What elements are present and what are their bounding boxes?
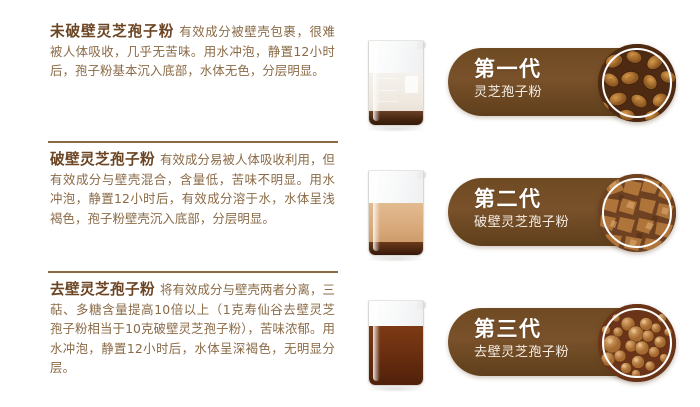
micrograph-circle-2[interactable] xyxy=(598,174,676,252)
generation-label-2: 第二代 xyxy=(474,187,604,212)
micrograph-ring-2 xyxy=(602,178,672,248)
infographic-canvas: 未破壁灵芝孢子粉有效成分被壁壳包裹，很难被人体吸收，几乎无苦味。用水冲泡，静置1… xyxy=(0,0,700,407)
generation-badge-content-1: 第一代 灵芝孢子粉 xyxy=(474,57,604,101)
generation-badge-content-3: 第三代 去壁灵芝孢子粉 xyxy=(474,317,604,361)
beaker-body-2 xyxy=(368,170,422,254)
beaker-glass-2 xyxy=(368,170,424,256)
beaker-shadow-3 xyxy=(364,386,426,392)
generation-label-1: 第一代 xyxy=(474,57,604,82)
beaker-glass-1 xyxy=(368,40,424,126)
generation-badge-content-2: 第二代 破壁灵芝孢子粉 xyxy=(474,187,604,231)
comparison-row-generation-1: 未破壁灵芝孢子粉有效成分被壁壳包裹，很难被人体吸收，几乎无苦味。用水冲泡，静置1… xyxy=(0,22,700,147)
generation-subtitle-2: 破壁灵芝孢子粉 xyxy=(474,214,604,231)
description-lead-2: 破壁灵芝孢子粉 xyxy=(50,151,155,168)
comparison-row-generation-2: 破壁灵芝孢子粉有效成分易被人体吸收利用，但有效成分与壁壳混合，含量低，苦味不明显… xyxy=(0,152,700,277)
beaker-label-1 xyxy=(405,76,418,93)
micrograph-ring-3 xyxy=(602,308,672,378)
micrograph-circle-3[interactable] xyxy=(598,304,676,382)
beaker-body-1 xyxy=(368,40,422,124)
beaker-graduation-1a xyxy=(378,78,398,79)
beaker-highlight-3 xyxy=(373,304,380,381)
beaker-graduation-1c xyxy=(378,101,398,102)
generation-subtitle-3: 去壁灵芝孢子粉 xyxy=(474,344,604,361)
beaker-body-3 xyxy=(368,300,422,384)
beaker-highlight-1 xyxy=(373,44,380,121)
description-text-3: 去壁灵芝孢子粉将有效成分与壁壳两者分离，三萜、多糖含量提高10倍以上（1克寿仙谷… xyxy=(50,280,335,378)
description-lead-3: 去壁灵芝孢子粉 xyxy=(50,281,155,298)
beaker-illustration-1 xyxy=(362,26,430,138)
generation-label-3: 第三代 xyxy=(474,317,604,342)
beaker-shadow-2 xyxy=(364,256,426,262)
beaker-shadow-1 xyxy=(364,126,426,132)
beaker-illustration-2 xyxy=(362,156,430,268)
description-text-2: 破壁灵芝孢子粉有效成分易被人体吸收利用，但有效成分与壁壳混合，含量低，苦味不明显… xyxy=(50,150,335,228)
micrograph-circle-1[interactable] xyxy=(598,44,676,122)
description-block-3: 去壁灵芝孢子粉将有效成分与壁壳两者分离，三萜、多糖含量提高10倍以上（1克寿仙谷… xyxy=(50,280,335,378)
beaker-illustration-3 xyxy=(362,286,430,398)
comparison-row-generation-3: 去壁灵芝孢子粉将有效成分与壁壳两者分离，三萜、多糖含量提高10倍以上（1克寿仙谷… xyxy=(0,282,700,407)
section-divider-2 xyxy=(48,271,338,273)
generation-subtitle-1: 灵芝孢子粉 xyxy=(474,84,604,101)
description-text-1: 未破壁灵芝孢子粉有效成分被壁壳包裹，很难被人体吸收，几乎无苦味。用水冲泡，静置1… xyxy=(50,22,335,81)
description-block-2: 破壁灵芝孢子粉有效成分易被人体吸收利用，但有效成分与壁壳混合，含量低，苦味不明显… xyxy=(50,150,335,228)
beaker-highlight-2 xyxy=(373,174,380,251)
beaker-glass-3 xyxy=(368,300,424,386)
micrograph-ring-1 xyxy=(602,48,672,118)
beaker-graduation-1b xyxy=(378,90,398,91)
description-block-1: 未破壁灵芝孢子粉有效成分被壁壳包裹，很难被人体吸收，几乎无苦味。用水冲泡，静置1… xyxy=(50,22,335,81)
description-lead-1: 未破壁灵芝孢子粉 xyxy=(50,23,174,40)
section-divider-1 xyxy=(48,141,338,143)
